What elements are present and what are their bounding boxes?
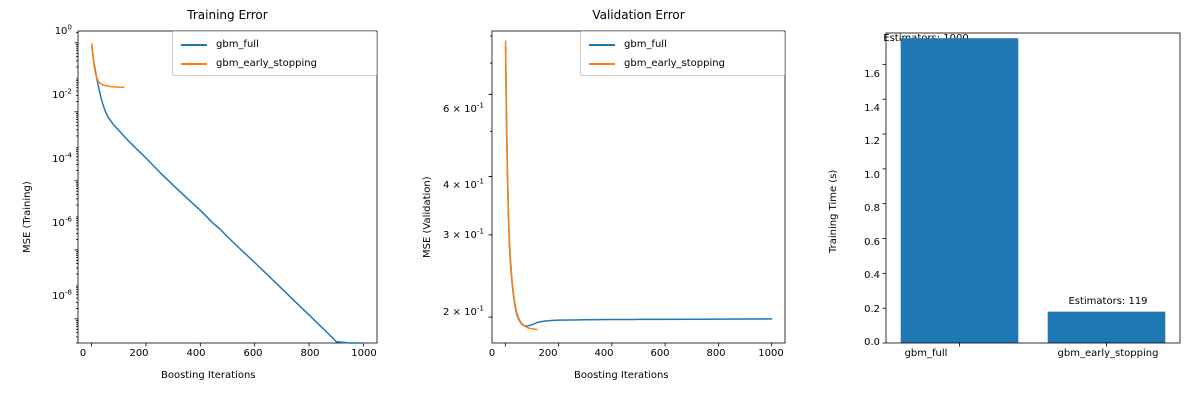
panel-training-time: Training Time (s) 0.0 0.2 0.4 0.6 0.8 1.…	[800, 0, 1200, 400]
legend-swatch-gbm-early-stopping	[181, 63, 207, 65]
legend-entry-gbm-early-stopping: gbm_early_stopping	[581, 54, 784, 73]
matplotlib-figure: Training Error MSE (Training) Boosting I…	[0, 0, 1200, 400]
legend-swatch-gbm-full	[589, 44, 615, 46]
legend-entry-gbm-full: gbm_full	[581, 35, 784, 54]
validation-error-legend[interactable]: gbm_full gbm_early_stopping	[580, 31, 785, 76]
validation-series	[506, 41, 772, 329]
training-time-plot-area	[800, 0, 1200, 400]
training-series	[92, 44, 364, 343]
legend-swatch-gbm-full	[181, 44, 207, 46]
series-gbm_full	[92, 47, 364, 343]
legend-label-gbm-full: gbm_full	[624, 39, 667, 50]
training-error-legend[interactable]: gbm_full gbm_early_stopping	[172, 31, 377, 76]
bar-gbm_early_stopping	[1048, 312, 1166, 343]
legend-entry-gbm-full: gbm_full	[173, 35, 376, 54]
series-gbm_early_stopping	[506, 41, 537, 329]
series-gbm_full	[506, 46, 772, 326]
training-tickmarks	[75, 32, 364, 346]
legend-label-gbm-early-stopping: gbm_early_stopping	[216, 58, 317, 69]
training-time-bars	[901, 38, 1166, 343]
bar-gbm_full	[901, 38, 1019, 343]
panel-training-error: Training Error MSE (Training) Boosting I…	[0, 0, 400, 400]
legend-swatch-gbm-early-stopping	[589, 63, 615, 65]
validation-tickmarks	[489, 36, 772, 346]
legend-label-gbm-early-stopping: gbm_early_stopping	[624, 58, 725, 69]
legend-entry-gbm-early-stopping: gbm_early_stopping	[173, 54, 376, 73]
legend-label-gbm-full: gbm_full	[216, 39, 259, 50]
panel-validation-error: Validation Error MSE (Validation) Boosti…	[400, 0, 800, 400]
